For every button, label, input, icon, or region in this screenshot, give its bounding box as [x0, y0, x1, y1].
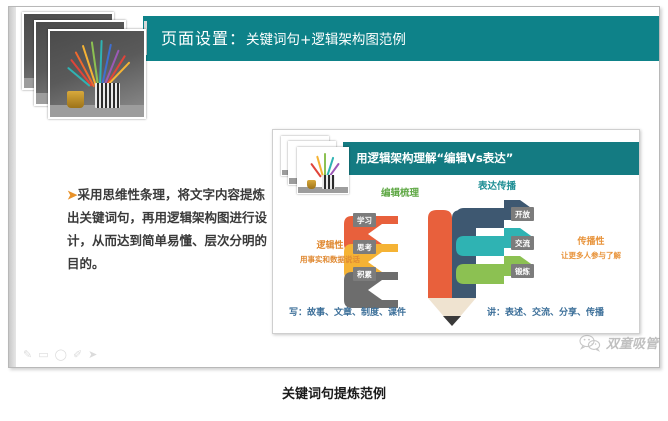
- diagram-heading-left: 编辑梳理: [381, 185, 419, 199]
- nested-slide-title: 用逻辑架构理解“编辑Vs表达”: [356, 150, 513, 166]
- diagram-chip-right-2: 交流: [511, 236, 534, 250]
- annotation-toolbar[interactable]: ✎ ▭ ◯ ✐ ➤: [23, 348, 97, 361]
- page-title-main: 页面设置：: [161, 29, 246, 48]
- diagram-chip-left-1: 学习: [353, 213, 376, 227]
- photo-thumbnail-stack: [22, 12, 154, 122]
- diagram-heading-right: 表达传播: [478, 178, 516, 192]
- ellipse-icon[interactable]: ◯: [55, 348, 67, 361]
- page-title-sub: 关键词句+逻辑架构图范例: [246, 32, 406, 48]
- watermark: 双童吸管: [579, 333, 658, 352]
- diagram-footer-right: 讲：表述、交流、分享、传播: [487, 305, 604, 318]
- diagram-side-right-sub: 让更多人参与了解: [545, 250, 637, 261]
- diagram-chip-right-3: 锻炼: [511, 264, 534, 278]
- figure-caption: 关键词句提炼范例: [0, 383, 668, 402]
- watermark-text: 双童吸管: [606, 333, 658, 352]
- diagram-footer-left: 写：故事、文章、制度、课件: [289, 305, 406, 318]
- highlighter-icon[interactable]: ✐: [73, 348, 82, 361]
- diagram-chip-left-3: 积累: [353, 267, 376, 281]
- diagram-side-right: 传播性 让更多人参与了解: [545, 234, 637, 261]
- screenshot-root: 页面设置：关键词句+逻辑架构图范例: [0, 0, 668, 421]
- eraser-icon[interactable]: ▭: [38, 348, 48, 361]
- diagram-side-left-title: 逻辑性: [291, 238, 369, 251]
- presentation-slide: 页面设置：关键词句+逻辑架构图范例: [8, 6, 660, 368]
- photo-thumbnail-front: [48, 29, 146, 119]
- diagram-side-right-title: 传播性: [545, 234, 637, 247]
- logic-structure-diagram: 编辑梳理 表达传播 学习 思考 积累 开放 交流 锻炼 逻辑性 用事实和数据说话…: [273, 178, 640, 334]
- body-paragraph-text: 采用思维性条理，将文字内容提炼出关键词句，再用逻辑架构图进行设计，从而达到简单易…: [67, 187, 267, 271]
- pointer-icon[interactable]: ➤: [88, 348, 97, 361]
- wechat-icon: [579, 334, 601, 352]
- body-paragraph: ➤采用思维性条理，将文字内容提炼出关键词句，再用逻辑架构图进行设计，从而达到简单…: [67, 183, 277, 276]
- diagram-chip-right-1: 开放: [511, 207, 534, 221]
- bullet-icon: ➤: [67, 187, 77, 202]
- diagram-side-left: 逻辑性 用事实和数据说话: [291, 238, 369, 265]
- nested-slide: 用逻辑架构理解“编辑Vs表达”: [272, 129, 640, 334]
- page-title: 页面设置：关键词句+逻辑架构图范例: [161, 25, 406, 49]
- pen-icon[interactable]: ✎: [23, 348, 32, 361]
- diagram-side-left-sub: 用事实和数据说话: [291, 254, 369, 265]
